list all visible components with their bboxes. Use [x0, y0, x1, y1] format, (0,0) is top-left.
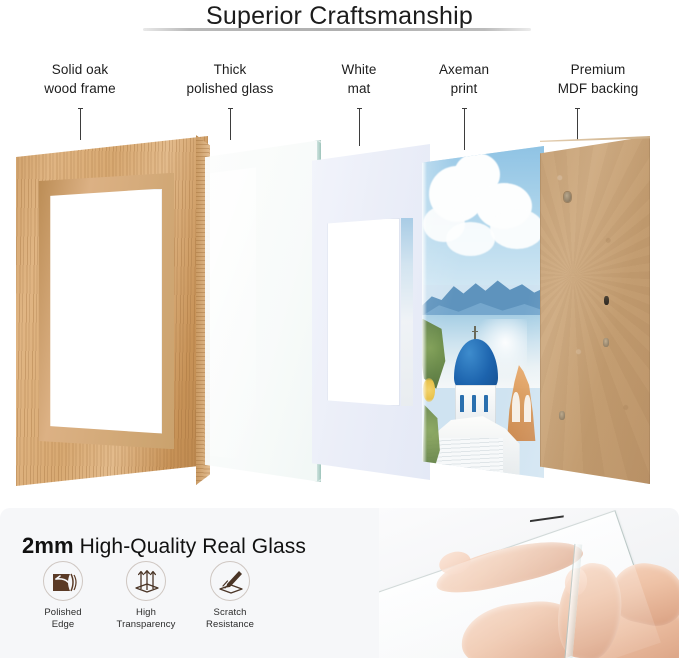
- glass-pane: [205, 140, 321, 482]
- exploded-frame-assembly: [0, 118, 679, 493]
- hand-holding-glass-photo: [379, 508, 679, 658]
- callout-line-1: Premium: [528, 60, 668, 79]
- santorini-photo: [422, 146, 544, 478]
- callout-line-1: White: [300, 60, 418, 79]
- feature-label-line-1: High: [103, 607, 189, 619]
- callout-line-1: Thick: [160, 60, 300, 79]
- glass-sheen-highlight: [210, 167, 256, 461]
- photo-left-edge-sheen: [422, 146, 427, 478]
- photo-cloud: [490, 209, 544, 249]
- mdf-backing-layer: [540, 136, 650, 484]
- feature-label-line-2: Edge: [20, 619, 106, 631]
- feature-scratch-resistance: Scratch Resistance: [187, 561, 273, 631]
- callout-label-premium-mdf-backing: Premium MDF backing: [528, 60, 668, 98]
- feature-high-transparency: High Transparency: [103, 561, 189, 631]
- photo-church-window: [460, 395, 464, 412]
- callout-label-axeman-print: Axeman print: [406, 60, 522, 98]
- callout-line-2: print: [406, 79, 522, 98]
- feature-label-line-1: Scratch: [187, 607, 273, 619]
- callout-line-2: polished glass: [160, 79, 300, 98]
- mat-window-photo-peek: [401, 218, 414, 406]
- glass-feature-list: Polished Edge: [20, 561, 280, 656]
- callout-line-1: Axeman: [406, 60, 522, 79]
- panel-heading: 2mm High-Quality Real Glass: [22, 533, 306, 559]
- mdf-hardware-fitting: [559, 411, 565, 420]
- photo-church-window: [484, 395, 488, 412]
- mdf-hardware-fitting: [604, 296, 609, 305]
- glass-quality-panel: 2mm High-Quality Real Glass Polished Edg: [0, 508, 679, 658]
- panel-heading-text: High-Quality Real Glass: [74, 535, 306, 558]
- mat-board: [312, 144, 430, 480]
- callout-label-white-mat: White mat: [300, 60, 418, 98]
- mdf-hardware-fitting: [564, 192, 571, 202]
- feature-label-line-2: Resistance: [187, 619, 273, 631]
- panel-heading-thickness: 2mm: [22, 533, 74, 558]
- callout-line-2: wood frame: [10, 79, 150, 98]
- feature-label-line-2: Transparency: [103, 619, 189, 631]
- callout-label-thick-polished-glass: Thick polished glass: [160, 60, 300, 98]
- product-infographic: Superior Craftsmanship Solid oak wood fr…: [0, 0, 679, 658]
- page-title: Superior Craftsmanship: [0, 0, 679, 31]
- photo-belfry-arch: [524, 395, 530, 422]
- mat-window-opening: [327, 218, 400, 406]
- mdf-hardware-fitting: [603, 338, 609, 347]
- glass-sheet-corner-highlight: [528, 515, 564, 546]
- title-underline-rule: [143, 28, 531, 31]
- photo-belfry-arch: [512, 392, 519, 422]
- feature-polished-edge: Polished Edge: [20, 561, 106, 631]
- photo-cloud: [446, 222, 495, 255]
- oak-wood-frame-layer: [8, 136, 208, 486]
- feature-label-line-1: Polished: [20, 607, 106, 619]
- callout-line-2: MDF backing: [528, 79, 668, 98]
- axeman-photo-print-layer: [422, 146, 544, 478]
- photo-church-window: [472, 395, 476, 412]
- polished-glass-layer: [205, 140, 321, 482]
- feature-label: Scratch Resistance: [187, 607, 273, 631]
- feature-label: Polished Edge: [20, 607, 106, 631]
- frame-opening: [48, 189, 162, 434]
- callout-label-solid-oak-wood-frame: Solid oak wood frame: [10, 60, 150, 98]
- high-transparency-icon: [126, 561, 166, 601]
- white-mat-layer: [312, 144, 430, 480]
- callout-line-2: mat: [300, 79, 418, 98]
- scratch-resistance-icon: [210, 561, 250, 601]
- feature-label: High Transparency: [103, 607, 189, 631]
- mdf-board: [540, 136, 650, 484]
- polished-edge-icon: [43, 561, 83, 601]
- callout-line-1: Solid oak: [10, 60, 150, 79]
